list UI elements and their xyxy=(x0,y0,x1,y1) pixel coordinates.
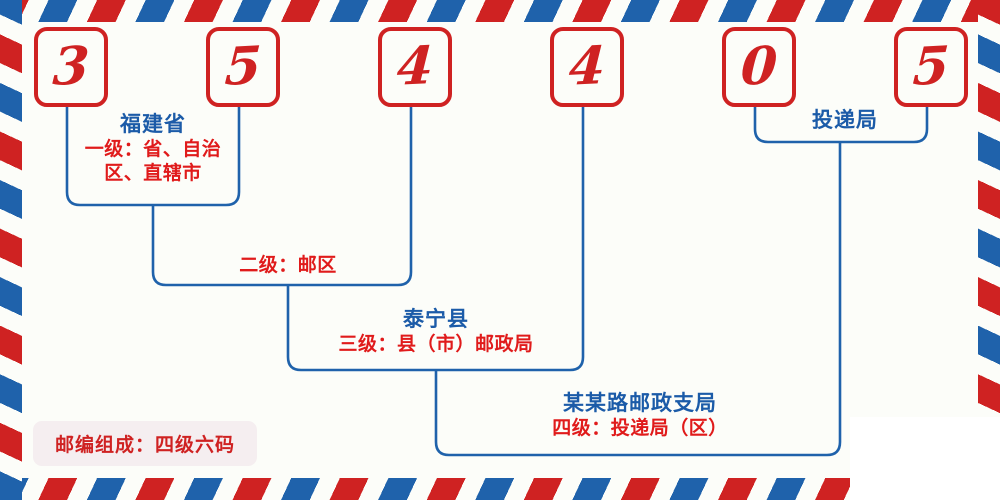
delivery-office-title: 投递局 xyxy=(760,108,930,133)
level-4-title: 某某路邮政支局 xyxy=(520,391,760,416)
level-2-subtitle: 二级：邮区 xyxy=(188,253,388,277)
level-3-title: 泰宁县 xyxy=(318,307,554,332)
level-3-label-group: 泰宁县 三级：县（市）邮政局 xyxy=(318,307,554,356)
postcode-composition-label: 邮编组成：四级六码 xyxy=(55,434,235,456)
postcode-digit-2: 5 xyxy=(223,40,262,94)
level-4-label-group: 某某路邮政支局 四级：投递局（区） xyxy=(520,391,760,440)
postcode-digit-box-2[interactable]: 5 xyxy=(206,27,280,107)
postcode-digit-box-5[interactable]: 0 xyxy=(722,27,796,107)
level-1-subtitle: 一级：省、自治区、直辖市 xyxy=(73,137,233,186)
postcode-digit-6: 5 xyxy=(911,40,950,94)
postcode-diagram-canvas: 3 5 4 4 0 5 福建省 一级：省、自治区、直辖市 二级：邮区 泰宁县 三… xyxy=(0,0,1000,500)
postcode-digit-box-1[interactable]: 3 xyxy=(34,27,108,107)
postcode-composition-badge: 邮编组成：四级六码 xyxy=(33,421,257,466)
postcode-digit-box-3[interactable]: 4 xyxy=(378,27,452,107)
postcode-digit-5: 0 xyxy=(739,40,778,94)
delivery-office-label-group: 投递局 xyxy=(760,108,930,133)
postcode-digit-3: 4 xyxy=(395,40,434,94)
postcode-digit-box-4[interactable]: 4 xyxy=(550,27,624,107)
airmail-border-left xyxy=(0,0,22,500)
postcode-digit-box-6[interactable]: 5 xyxy=(894,27,968,107)
airmail-border-top xyxy=(0,0,1000,22)
level-1-title: 福建省 xyxy=(73,112,233,137)
level-1-label-group: 福建省 一级：省、自治区、直辖市 xyxy=(73,112,233,185)
level-3-subtitle: 三级：县（市）邮政局 xyxy=(318,332,554,356)
white-crop-patch xyxy=(850,417,1000,500)
level-2-label-group: 二级：邮区 xyxy=(188,253,388,277)
postcode-digit-1: 3 xyxy=(51,40,90,94)
level-4-subtitle: 四级：投递局（区） xyxy=(520,416,760,440)
postcode-digit-4: 4 xyxy=(567,40,606,94)
